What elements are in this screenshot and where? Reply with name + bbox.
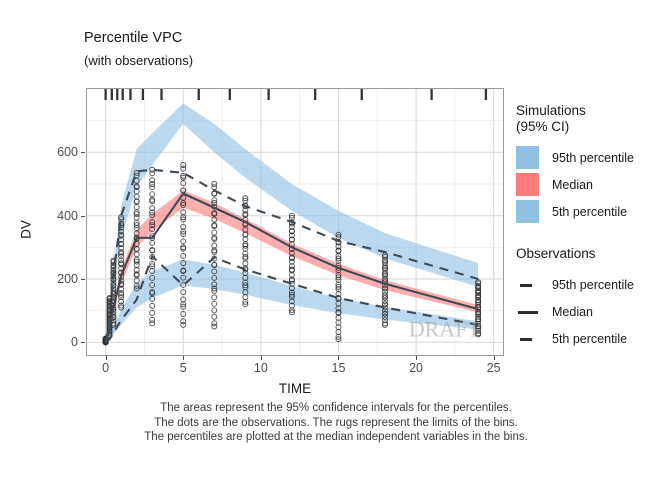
plot-title: Percentile VPC xyxy=(84,30,182,46)
legend-simulations: Simulations (95% CI) 95th percentileMedi… xyxy=(516,103,666,225)
legend-swatch-icon xyxy=(516,200,539,223)
legend-item-label: 5th percentile xyxy=(552,332,627,346)
legend-simulations-title: Simulations (95% CI) xyxy=(516,103,666,135)
y-tick-label: 200 xyxy=(34,272,78,286)
legend-item-label: Median xyxy=(552,178,593,192)
dashed-line-icon xyxy=(516,327,539,350)
vpc-figure: Percentile VPC (with observations) DV TI… xyxy=(0,0,672,480)
y-tick-label: 0 xyxy=(34,335,78,349)
x-tick-label: 0 xyxy=(102,361,109,375)
caption-line-2: The dots are the observations. The rugs … xyxy=(0,416,672,431)
x-tick-label: 15 xyxy=(332,361,346,375)
legend-item-simulation[interactable]: 5th percentile xyxy=(516,198,666,225)
x-tick-label: 25 xyxy=(487,361,501,375)
legend-item-simulation[interactable]: 95th percentile xyxy=(516,144,666,171)
rug-marks xyxy=(106,89,486,100)
caption-line-3: The percentiles are plotted at the media… xyxy=(0,430,672,445)
x-tick-mark xyxy=(338,356,339,360)
legend-item-observation[interactable]: Median xyxy=(516,298,666,325)
legend-swatch-icon xyxy=(516,173,539,196)
legend-observations: Observations 95th percentileMedian5th pe… xyxy=(516,246,666,352)
y-axis-label: DV xyxy=(19,220,34,239)
y-tick-mark xyxy=(81,152,85,153)
plot-panel: DRAFT xyxy=(86,88,504,356)
x-tick-mark xyxy=(261,356,262,360)
solid-line-icon xyxy=(516,300,539,323)
dashed-line-icon xyxy=(516,273,539,296)
x-tick-mark xyxy=(183,356,184,360)
legend-item-label: Median xyxy=(552,305,593,319)
legend-item-label: 5th percentile xyxy=(552,205,627,219)
x-tick-label: 20 xyxy=(409,361,423,375)
figure-caption: The areas represent the 95% confidence i… xyxy=(0,401,672,445)
legend-item-observation[interactable]: 95th percentile xyxy=(516,271,666,298)
legend-swatch-icon xyxy=(516,146,539,169)
y-tick-label: 600 xyxy=(34,145,78,159)
y-tick-label: 400 xyxy=(34,209,78,223)
y-tick-mark xyxy=(81,216,85,217)
plot-subtitle: (with observations) xyxy=(84,53,193,68)
plot-canvas: DRAFT xyxy=(87,89,503,355)
y-tick-mark xyxy=(81,279,85,280)
x-tick-mark xyxy=(416,356,417,360)
caption-line-1: The areas represent the 95% confidence i… xyxy=(0,401,672,416)
x-tick-mark xyxy=(106,356,107,360)
x-tick-mark xyxy=(494,356,495,360)
x-tick-label: 5 xyxy=(180,361,187,375)
y-tick-mark xyxy=(81,342,85,343)
legend-item-observation[interactable]: 5th percentile xyxy=(516,325,666,352)
legend-observations-title: Observations xyxy=(516,246,666,262)
legend-sim-title-line1: Simulations xyxy=(516,103,666,119)
x-axis-label: TIME xyxy=(86,381,504,396)
x-tick-label: 10 xyxy=(254,361,268,375)
draft-watermark: DRAFT xyxy=(409,316,482,341)
legend-item-simulation[interactable]: Median xyxy=(516,171,666,198)
legend-item-label: 95th percentile xyxy=(552,151,634,165)
legend-item-label: 95th percentile xyxy=(552,278,634,292)
legend-sim-title-line2: (95% CI) xyxy=(516,119,666,135)
